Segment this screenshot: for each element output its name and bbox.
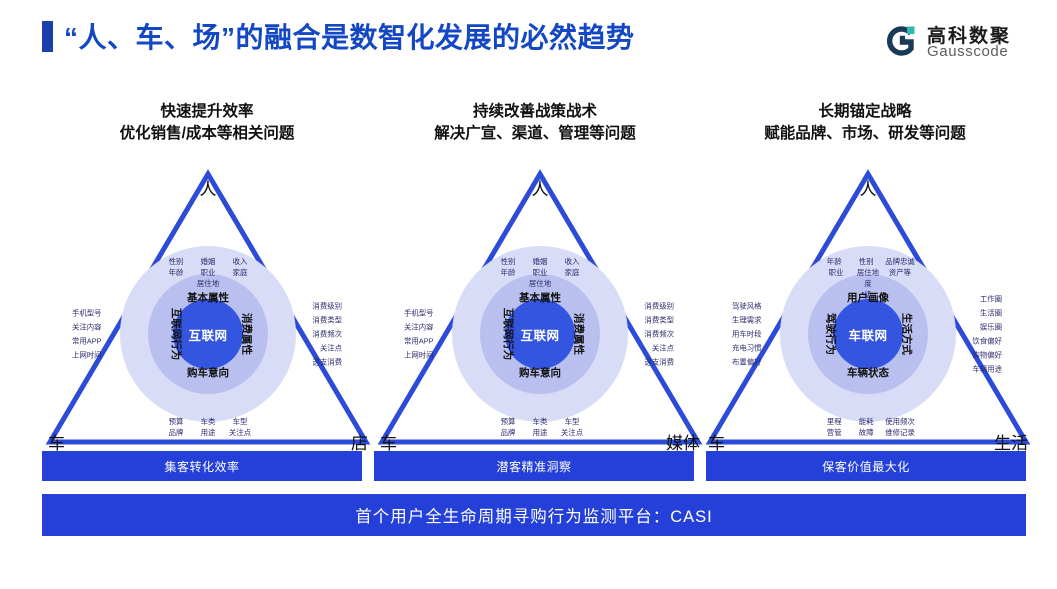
keyword: 消费级别 — [312, 301, 344, 312]
column-header-2: 长期锚定战略 赋能品牌、市场、研发等问题 — [700, 101, 1030, 145]
keyword: 故障 — [853, 427, 879, 438]
circle-core: 车联网 — [833, 299, 903, 369]
circle-core-label: 车联网 — [848, 325, 887, 344]
keyword: 车型 — [227, 416, 253, 427]
concentric-circle-diagram: 互联网 基本属性 购车意向 互联网行为 消费属性 性别婚姻收入年龄职业家庭居住地… — [452, 246, 628, 422]
keyword: 工作圈 — [972, 294, 1004, 305]
keyword: 预算 — [495, 416, 521, 427]
keyword: 预算 — [163, 416, 189, 427]
keyword: 年龄 — [495, 267, 521, 278]
keyword-row: 年龄职业家庭 — [492, 267, 588, 278]
keyword: 级 — [855, 289, 881, 300]
ring-label-top: 基本属性 — [187, 290, 229, 305]
keywords-left: 手机型号关注内容常用APP上网时间 — [72, 305, 102, 364]
vertex-label-top: 人 — [860, 180, 877, 200]
keyword: 娱乐圈 — [972, 322, 1004, 333]
keyword: 消费频次 — [312, 329, 344, 340]
keyword: 性别 — [853, 256, 879, 267]
keyword-row: 营管故障维修记录 — [818, 427, 918, 438]
keyword: 职业 — [195, 267, 221, 278]
keyword: 职业 — [823, 267, 849, 278]
ring-label-left: 互联网行为 — [169, 308, 184, 361]
keyword: 常用APP — [72, 336, 102, 347]
keyword-row: 品牌用途关注点 — [492, 427, 588, 438]
keyword: 度 — [855, 278, 881, 289]
column-header-line1: 持续改善战策战术 — [370, 101, 700, 123]
keyword: 性别 — [163, 256, 189, 267]
keyword: 常用APP — [404, 336, 434, 347]
keyword: 关注点 — [227, 427, 253, 438]
keywords-left: 手机型号关注内容常用APP上网时间 — [404, 305, 434, 364]
keyword: 关注内容 — [72, 322, 102, 333]
keyword: 手机型号 — [72, 308, 102, 319]
gausscode-g-mark — [885, 24, 919, 58]
ring-label-top: 基本属性 — [519, 290, 561, 305]
brand-logo: 高科数聚 Gausscode — [885, 20, 1035, 64]
triangle-panel-2: 人 车 生活 车联网 用户画像 车辆状态 驾驶行为 生活方式 年龄性别品牌忠诚职… — [698, 160, 1038, 450]
keyword: 饮食偏好 — [972, 336, 1004, 347]
keyword: 关注点 — [644, 343, 676, 354]
keyword: 用途 — [195, 427, 221, 438]
keyword: 透支消费 — [644, 357, 676, 368]
column-banner-1: 潜客精准洞察 — [374, 451, 694, 481]
keyword: 婚姻 — [195, 256, 221, 267]
triangle-panel-1: 人 车 媒体 互联网 基本属性 购车意向 互联网行为 消费属性 性别婚姻收入年龄… — [370, 160, 710, 450]
column-header-line2: 优化销售/成本等相关问题 — [42, 123, 372, 145]
keyword: 充电习惯 — [732, 343, 762, 354]
keyword: 关注点 — [559, 427, 585, 438]
keyword: 车辆用途 — [972, 364, 1004, 375]
keyword-row: 级 — [818, 289, 918, 300]
keyword: 用途 — [527, 427, 553, 438]
keyword: 品牌忠诚 — [885, 256, 915, 267]
keyword-row: 预算车类车型 — [160, 416, 256, 427]
page-title: “人、车、场”的融合是数智化发展的必然趋势 — [64, 16, 635, 56]
keyword: 驾驶风格 — [732, 301, 762, 312]
ring-label-left: 互联网行为 — [501, 308, 516, 361]
circle-core-label: 互联网 — [188, 325, 227, 344]
keyword: 透支消费 — [312, 357, 344, 368]
keyword: 手机型号 — [404, 308, 434, 319]
keywords-top: 年龄性别品牌忠诚职业居住地资产等度级 — [818, 256, 918, 300]
keyword: 用车时段 — [732, 329, 762, 340]
keyword: 家庭 — [227, 267, 253, 278]
keyword: 消费频次 — [644, 329, 676, 340]
keyword: 年龄 — [163, 267, 189, 278]
ring-label-bottom: 车辆状态 — [847, 365, 889, 380]
column-header-line1: 快速提升效率 — [42, 101, 372, 123]
column-header-line2: 赋能品牌、市场、研发等问题 — [700, 123, 1030, 145]
column-header-1: 持续改善战策战术 解决广宣、渠道、管理等问题 — [370, 101, 700, 145]
keyword: 车类 — [527, 416, 553, 427]
slide-root: “人、车、场”的融合是数智化发展的必然趋势 高科数聚 Gausscode 快速提… — [0, 0, 1057, 589]
platform-banner: 首个用户全生命周期寻购行为监测平台：CASI — [42, 494, 1026, 536]
keywords-right: 消费级别消费类型消费频次关注点透支消费 — [312, 298, 344, 371]
keyword: 消费类型 — [644, 315, 676, 326]
keyword-row: 度 — [818, 278, 918, 289]
keyword-row: 预算车类车型 — [492, 416, 588, 427]
keyword: 营管 — [821, 427, 847, 438]
keyword: 车类 — [195, 416, 221, 427]
ring-label-right: 生活方式 — [900, 313, 915, 355]
slide-header: “人、车、场”的融合是数智化发展的必然趋势 高科数聚 Gausscode — [0, 0, 1057, 72]
keyword-row: 性别婚姻收入 — [492, 256, 588, 267]
keyword: 收入 — [559, 256, 585, 267]
triangle-panel-0: 人 车 店 互联网 基本属性 购车意向 互联网行为 消费属性 性别婚姻收入年龄职… — [38, 160, 378, 450]
column-banner-2: 保客价值最大化 — [706, 451, 1026, 481]
keyword: 品牌 — [163, 427, 189, 438]
keyword: 维修记录 — [885, 427, 915, 438]
ring-label-bottom: 购车意向 — [187, 365, 229, 380]
keyword: 能耗 — [853, 416, 879, 427]
keyword: 居住地 — [527, 278, 553, 289]
keywords-right: 消费级别消费类型消费频次关注点透支消费 — [644, 298, 676, 371]
keyword-row: 品牌用途关注点 — [160, 427, 256, 438]
keyword: 里程 — [821, 416, 847, 427]
concentric-circle-diagram: 车联网 用户画像 车辆状态 驾驶行为 生活方式 年龄性别品牌忠诚职业居住地资产等… — [780, 246, 956, 422]
keyword: 消费级别 — [644, 301, 676, 312]
column-header-line2: 解决广宣、渠道、管理等问题 — [370, 123, 700, 145]
keywords-bottom: 里程能耗使用频次营管故障维修记录 — [818, 416, 918, 438]
keyword: 生活圈 — [972, 308, 1004, 319]
keywords-top: 性别婚姻收入年龄职业家庭居住地 — [160, 256, 256, 289]
column-header-line1: 长期锚定战略 — [700, 101, 1030, 123]
logo-text-en: Gausscode — [927, 43, 1008, 60]
keyword: 上网时间 — [72, 350, 102, 361]
circle-core-label: 互联网 — [520, 325, 559, 344]
keyword-row: 性别婚姻收入 — [160, 256, 256, 267]
keyword-row: 居住地 — [160, 278, 256, 289]
title-accent-bar — [42, 21, 53, 52]
ring-label-right: 消费属性 — [240, 313, 255, 355]
keyword: 年龄 — [821, 256, 847, 267]
keyword: 使用频次 — [885, 416, 915, 427]
keyword: 关注点 — [312, 343, 344, 354]
vertex-label-top: 人 — [532, 180, 549, 200]
vertex-label-top: 人 — [200, 180, 217, 200]
keyword: 消费类型 — [312, 315, 344, 326]
keyword: 职业 — [527, 267, 553, 278]
keyword: 居住地 — [195, 278, 221, 289]
keyword-row: 年龄性别品牌忠诚 — [818, 256, 918, 267]
keywords-right: 工作圈生活圈娱乐圈饮食偏好购物偏好车辆用途 — [972, 291, 1004, 378]
keyword: 性别 — [495, 256, 521, 267]
keyword-row: 居住地 — [492, 278, 588, 289]
keyword: 婚姻 — [527, 256, 553, 267]
column-banner-0: 集客转化效率 — [42, 451, 362, 481]
keywords-left: 驾驶风格生理需求用车时段充电习惯布置偏好 — [732, 298, 762, 371]
keywords-top: 性别婚姻收入年龄职业家庭居住地 — [492, 256, 588, 289]
keyword: 关注内容 — [404, 322, 434, 333]
keyword: 收入 — [227, 256, 253, 267]
keywords-bottom: 预算车类车型品牌用途关注点 — [160, 416, 256, 438]
keyword: 购物偏好 — [972, 350, 1004, 361]
keyword: 家庭 — [559, 267, 585, 278]
ring-label-bottom: 购车意向 — [519, 365, 561, 380]
ring-label-right: 消费属性 — [572, 313, 587, 355]
keyword: 居住地 — [855, 267, 881, 278]
keyword: 品牌 — [495, 427, 521, 438]
concentric-circle-diagram: 互联网 基本属性 购车意向 互联网行为 消费属性 性别婚姻收入年龄职业家庭居住地… — [120, 246, 296, 422]
keyword: 上网时间 — [404, 350, 434, 361]
keyword-row: 里程能耗使用频次 — [818, 416, 918, 427]
column-header-0: 快速提升效率 优化销售/成本等相关问题 — [42, 101, 372, 145]
keyword: 车型 — [559, 416, 585, 427]
keywords-bottom: 预算车类车型品牌用途关注点 — [492, 416, 588, 438]
keyword: 生理需求 — [732, 315, 762, 326]
keyword-row: 年龄职业家庭 — [160, 267, 256, 278]
keyword: 资产等 — [887, 267, 913, 278]
keyword-row: 职业居住地资产等 — [818, 267, 918, 278]
ring-label-left: 驾驶行为 — [824, 313, 839, 355]
keyword: 布置偏好 — [732, 357, 762, 368]
